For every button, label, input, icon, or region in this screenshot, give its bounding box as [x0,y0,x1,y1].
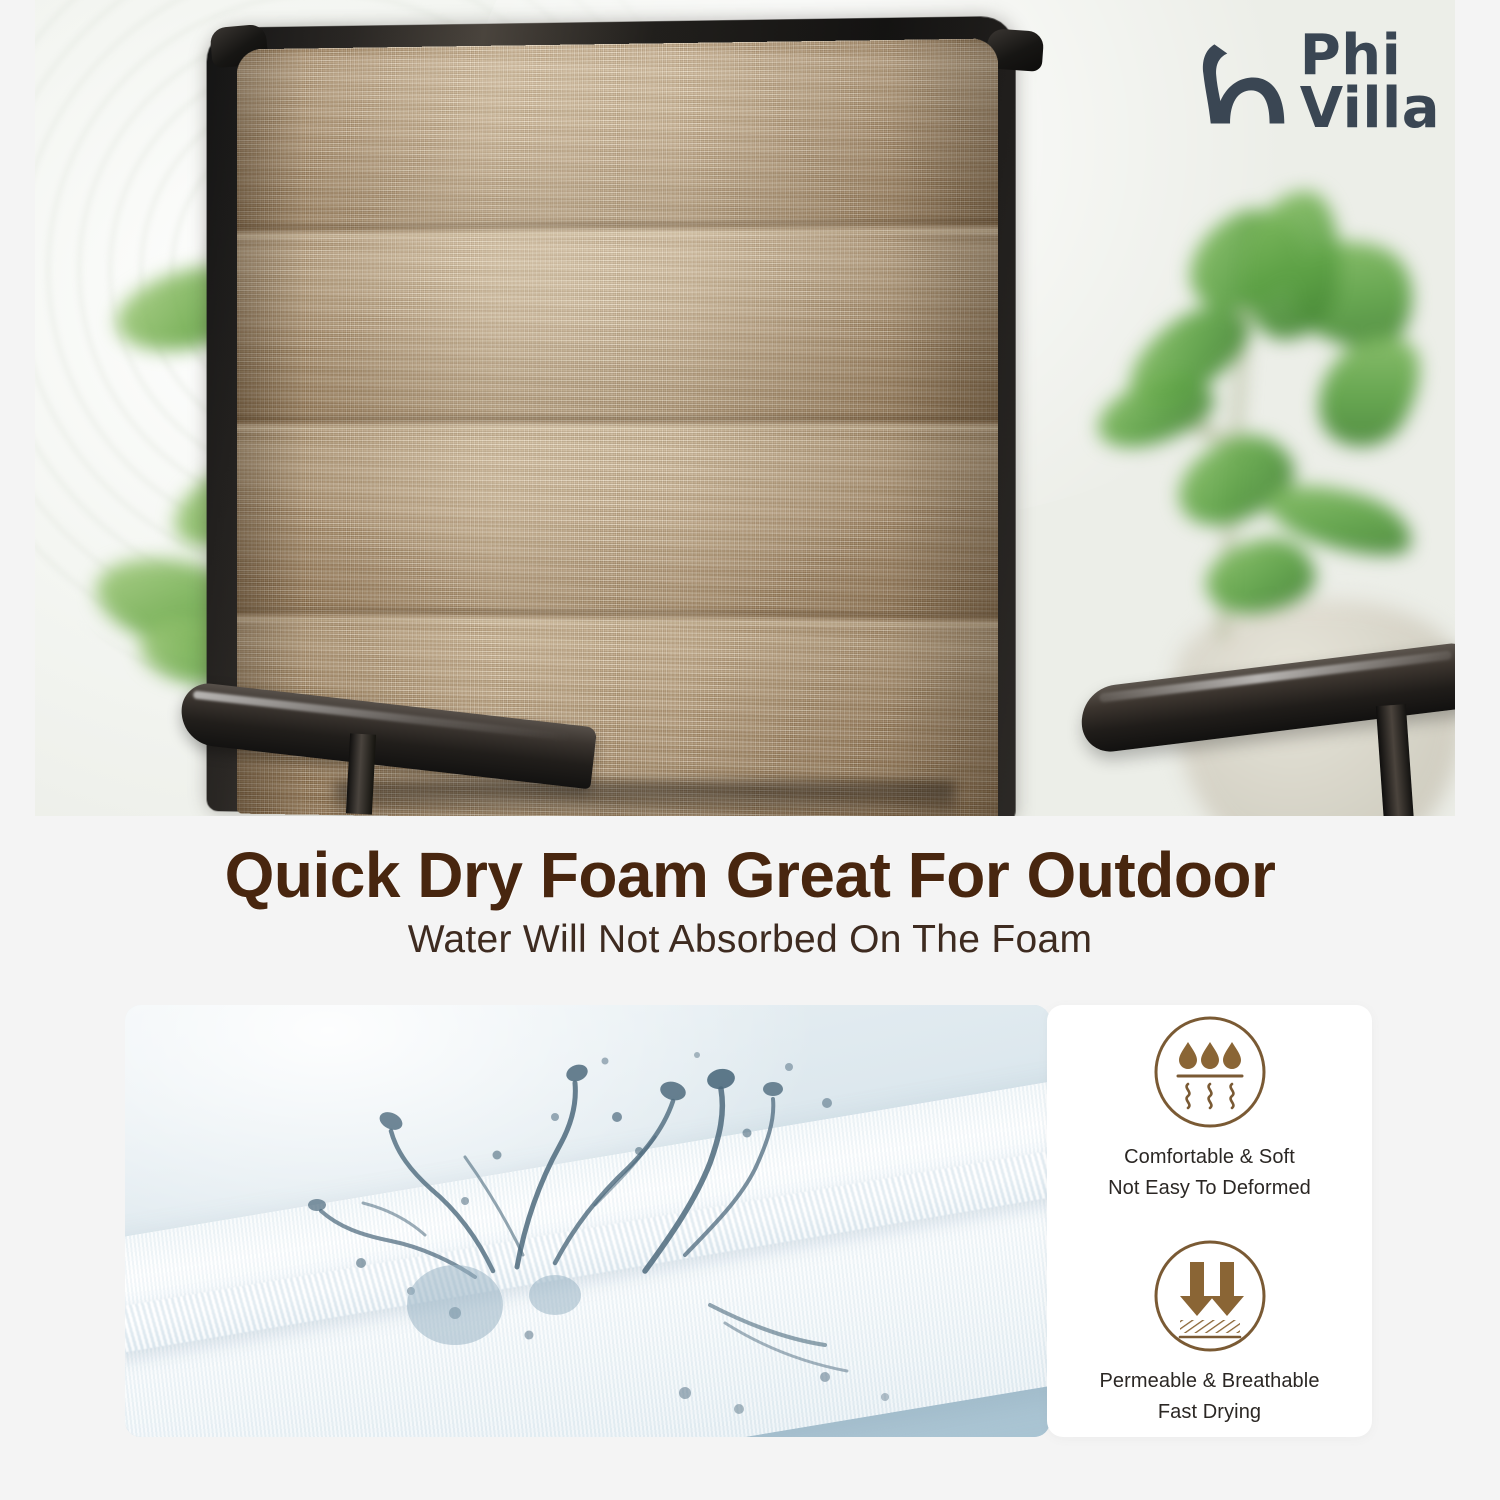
product-infographic-page: Phi Villa Quick Dry Foam Great For Outdo… [0,0,1500,1500]
feature-label-line1: Comfortable & Soft [1108,1142,1311,1173]
brand-wordmark: Phi Villa [1300,30,1440,135]
feature-label-line2: Fast Drying [1099,1397,1319,1428]
page-subtitle: Water Will Not Absorbed On The Foam [0,918,1500,962]
feature-list-card: Comfortable & Soft Not Easy To Deformed [1047,1005,1372,1437]
down-arrows-permeable-layer-icon [1152,1238,1268,1354]
feature-label-line2: Not Easy To Deformed [1108,1173,1311,1204]
chair-armrest-right [1080,665,1455,816]
feature-label-line1: Permeable & Breathable [1099,1366,1319,1397]
water-splash [125,1005,1050,1437]
page-title: Quick Dry Foam Great For Outdoor [0,838,1500,912]
feature-item: Permeable & Breathable Fast Drying [1099,1238,1319,1428]
feature-item: Comfortable & Soft Not Easy To Deformed [1108,1014,1311,1204]
chair-armrest-left [180,690,595,810]
brand-logo: Phi Villa [1196,30,1440,135]
foam-water-photo [125,1005,1050,1437]
phi-villa-arch-mark-icon [1196,35,1288,131]
water-droplets-over-line-icon [1152,1014,1268,1130]
brand-name-line2: Villa [1300,83,1440,136]
feature-label: Comfortable & Soft Not Easy To Deformed [1108,1142,1311,1204]
feature-label: Permeable & Breathable Fast Drying [1099,1366,1319,1428]
brand-name-line1: Phi [1300,30,1440,83]
